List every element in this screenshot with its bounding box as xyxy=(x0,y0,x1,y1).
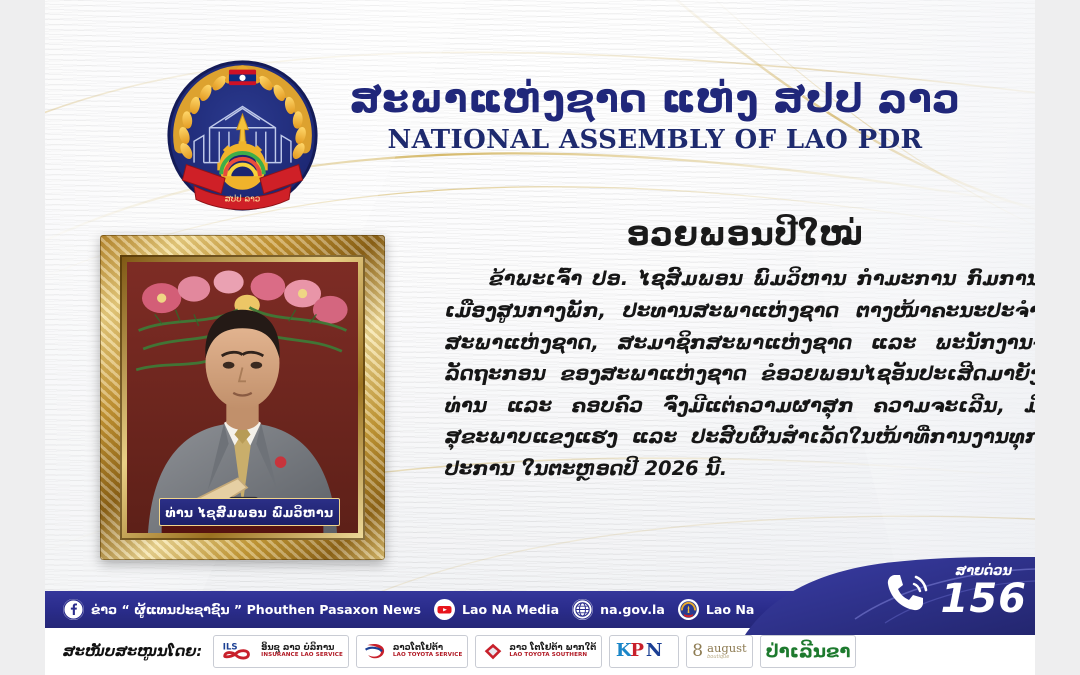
hotline-number: 156 xyxy=(941,579,1028,619)
august-logo: 8 xyxy=(692,643,703,660)
ils-infinity-logo: ILS xyxy=(219,639,257,664)
social-link-youtube-label: Lao NA Media xyxy=(462,602,559,617)
portrait-photo-frame: ທ່ານ ໄຊສົມພອນ ພົມວິຫານ xyxy=(100,235,385,560)
lao-emblem-icon xyxy=(678,599,699,620)
new-year-greeting-poster: ສປປ ລາວ ສະພາແຫ່ງຊາດ ແຫ່ງ ສປປ ລາວ NATIONA… xyxy=(45,0,1035,675)
sponsor-lao-toyota-south-line2: LAO TOYOTA SOUTHERN xyxy=(509,653,596,659)
facebook-icon xyxy=(63,599,84,620)
sponsor-logo-kpn[interactable]: K P N xyxy=(609,635,679,668)
youtube-icon xyxy=(434,599,455,620)
sponsor-august-line1: august xyxy=(707,643,747,655)
greeting-content: ອວຍພອນປີໃໝ່ ຂ້າພະເຈົ້າ ປອ. ໄຊສົມພອນ ພົມວ… xyxy=(445,215,1035,484)
sponsor-logo-pa-lern-kha[interactable]: ປ່າເລີນຂາ xyxy=(760,635,857,668)
portrait-photo: ທ່ານ ໄຊສົມພອນ ພົມວິຫານ xyxy=(127,262,358,533)
page-title-english: NATIONAL ASSEMBLY OF LAO PDR xyxy=(335,125,975,155)
sponsor-ils-line2: INSURANCE LAO SERVICE xyxy=(261,653,343,659)
pa-lern-kha-logo: ປ່າເລີນຂາ xyxy=(766,641,851,662)
social-link-website[interactable]: na.gov.la xyxy=(572,599,665,620)
lao-national-emblem: ສປປ ລາວ xyxy=(165,58,320,213)
emblem-ribbon-text: ສປປ ລາວ xyxy=(225,194,261,204)
greeting-title: ອວຍພອນປີໃໝ່ xyxy=(445,215,1035,253)
greeting-body-text: ຂ້າພະເຈົ້າ ປອ. ໄຊສົມພອນ ພົມວິຫານ ກຳມະການ… xyxy=(445,263,1035,484)
kpn-logo: K P N xyxy=(615,638,673,666)
social-link-youtube[interactable]: Lao NA Media xyxy=(434,599,559,620)
sponsor-logo-ils[interactable]: ILS ອິນຊູ ລາວ ບໍລິການ INSURANCE LAO SERV… xyxy=(213,635,349,668)
sponsors-strip: ສະໜັບສະໜູນໂດຍ: ILS ອິນຊູ ລາວ ບໍລິການ INS… xyxy=(45,628,1035,675)
red-diamond-logo xyxy=(481,640,505,664)
svg-text:P: P xyxy=(631,639,645,660)
social-link-facebook-label: ຂ່າວ “ ຜູ້ແທນປະຊາຊົນ ” Phouthen Pasaxon … xyxy=(91,602,421,617)
right-page-edge xyxy=(1035,0,1080,675)
sponsor-lao-toyota-line2: LAO TOYOTA SERVICE xyxy=(393,653,463,659)
phone-ringing-icon xyxy=(881,567,931,617)
poster-header: ສະພາແຫ່ງຊາດ ແຫ່ງ ສປປ ລາວ NATIONAL ASSEMB… xyxy=(335,78,975,155)
sponsors-label: ສະໜັບສະໜູນໂດຍ: xyxy=(63,644,202,660)
sponsor-logo-lao-toyota-south[interactable]: ລາວ ໂຕໂຢຕ້າ ພາກໃຕ້ LAO TOYOTA SOUTHERN xyxy=(475,635,602,668)
globe-icon xyxy=(572,599,593,620)
page-title-lao: ສະພາແຫ່ງຊາດ ແຫ່ງ ສປປ ລາວ xyxy=(335,78,975,122)
social-link-facebook[interactable]: ຂ່າວ “ ຜູ້ແທນປະຊາຊົນ ” Phouthen Pasaxon … xyxy=(63,599,421,620)
sponsor-august-tagline: boutique xyxy=(707,655,747,660)
svg-text:N: N xyxy=(646,639,662,660)
svg-text:ILS: ILS xyxy=(223,643,238,653)
sponsor-logo-lao-toyota[interactable]: ລາວໂຕໂຢຕ້າ LAO TOYOTA SERVICE xyxy=(356,635,469,668)
portrait-nameplate: ທ່ານ ໄຊສົມພອນ ພົມວິຫານ xyxy=(159,498,339,526)
hotline-panel: ສາຍດ່ວນ 156 xyxy=(735,557,1035,635)
sponsor-logo-august[interactable]: 8 august boutique xyxy=(686,635,752,668)
toyota-swirl-logo xyxy=(362,639,389,664)
left-page-edge xyxy=(0,0,45,675)
social-link-website-label: na.gov.la xyxy=(600,602,665,617)
